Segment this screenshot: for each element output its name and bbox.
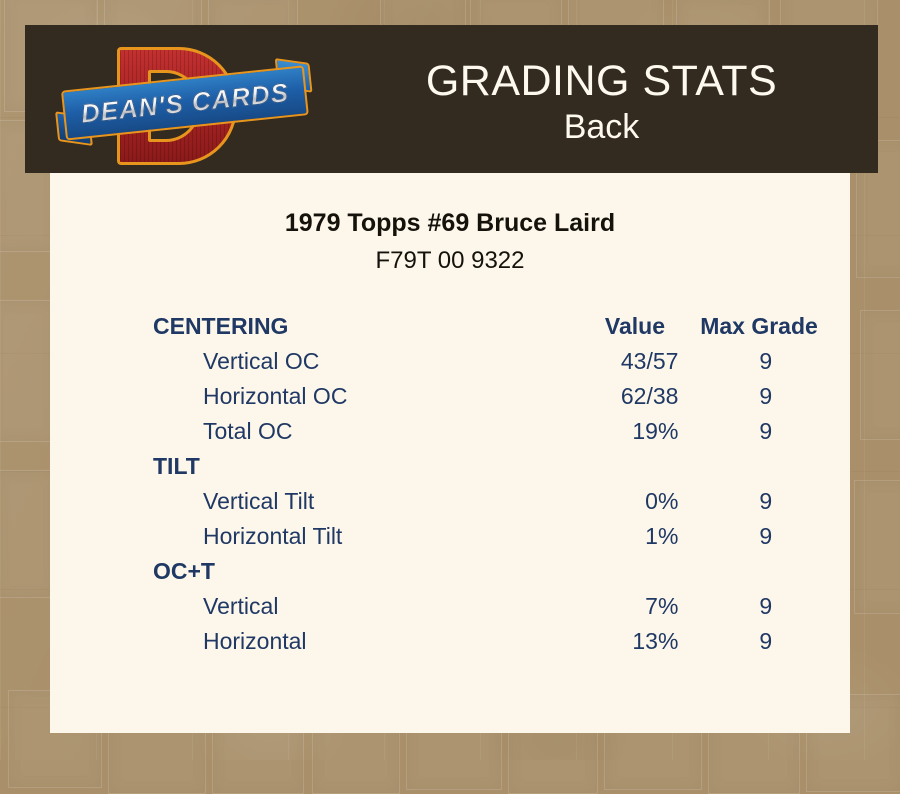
row-label: Total OC <box>153 418 537 445</box>
row-value: 43/57 <box>537 348 678 375</box>
row-max-grade: 9 <box>678 523 853 550</box>
page-title: GRADING STATS <box>426 56 777 106</box>
header-title-group: GRADING STATS Back <box>325 25 878 173</box>
row-value: 1% <box>537 523 678 550</box>
row-label: Horizontal OC <box>153 383 537 410</box>
background-card-thumb <box>0 300 56 442</box>
section-header-oc-plus-t: OC+T <box>153 558 853 593</box>
background-card-thumb <box>860 310 900 440</box>
deans-cards-logo[interactable]: DEAN'S CARDS <box>55 31 315 171</box>
section-title: TILT <box>153 453 513 480</box>
column-header-category: CENTERING <box>153 313 513 340</box>
content-panel: 1979 Topps #69 Bruce Laird F79T 00 9322 … <box>50 173 850 733</box>
section-header-tilt: TILT <box>153 453 853 488</box>
row-max-grade: 9 <box>678 628 853 655</box>
row-label: Horizontal Tilt <box>153 523 537 550</box>
grading-stats-table: CENTERING Value Max Grade Vertical OC 43… <box>153 313 853 663</box>
table-header-row: CENTERING Value Max Grade <box>153 313 853 348</box>
table-row: Vertical OC 43/57 9 <box>153 348 853 383</box>
row-value: 19% <box>537 418 678 445</box>
row-max-grade: 9 <box>678 348 853 375</box>
row-label: Horizontal <box>153 628 537 655</box>
card-serial-number: F79T 00 9322 <box>50 247 850 275</box>
header-bar: DEAN'S CARDS GRADING STATS Back <box>25 25 878 173</box>
background-card-thumb <box>0 470 56 598</box>
row-max-grade: 9 <box>678 418 853 445</box>
table-row: Vertical 7% 9 <box>153 593 853 628</box>
background-card-thumb <box>854 480 900 614</box>
column-header-value: Value <box>513 313 665 340</box>
row-value: 13% <box>537 628 678 655</box>
grading-stats-page: DEAN'S CARDS GRADING STATS Back 1979 Top… <box>0 0 900 760</box>
row-value: 0% <box>537 488 678 515</box>
card-title: 1979 Topps #69 Bruce Laird <box>50 209 850 238</box>
row-value: 62/38 <box>537 383 678 410</box>
row-max-grade: 9 <box>678 488 853 515</box>
table-row: Horizontal Tilt 1% 9 <box>153 523 853 558</box>
row-max-grade: 9 <box>678 383 853 410</box>
column-header-max-grade: Max Grade <box>665 313 853 340</box>
row-label: Vertical Tilt <box>153 488 537 515</box>
row-max-grade: 9 <box>678 593 853 620</box>
logo-text: DEAN'S CARDS <box>80 79 290 127</box>
row-value: 7% <box>537 593 678 620</box>
row-label: Vertical <box>153 593 537 620</box>
row-label: Vertical OC <box>153 348 537 375</box>
table-row: Total OC 19% 9 <box>153 418 853 453</box>
section-title: OC+T <box>153 558 513 585</box>
table-row: Horizontal OC 62/38 9 <box>153 383 853 418</box>
table-row: Horizontal 13% 9 <box>153 628 853 663</box>
table-row: Vertical Tilt 0% 9 <box>153 488 853 523</box>
page-subtitle: Back <box>564 106 640 148</box>
